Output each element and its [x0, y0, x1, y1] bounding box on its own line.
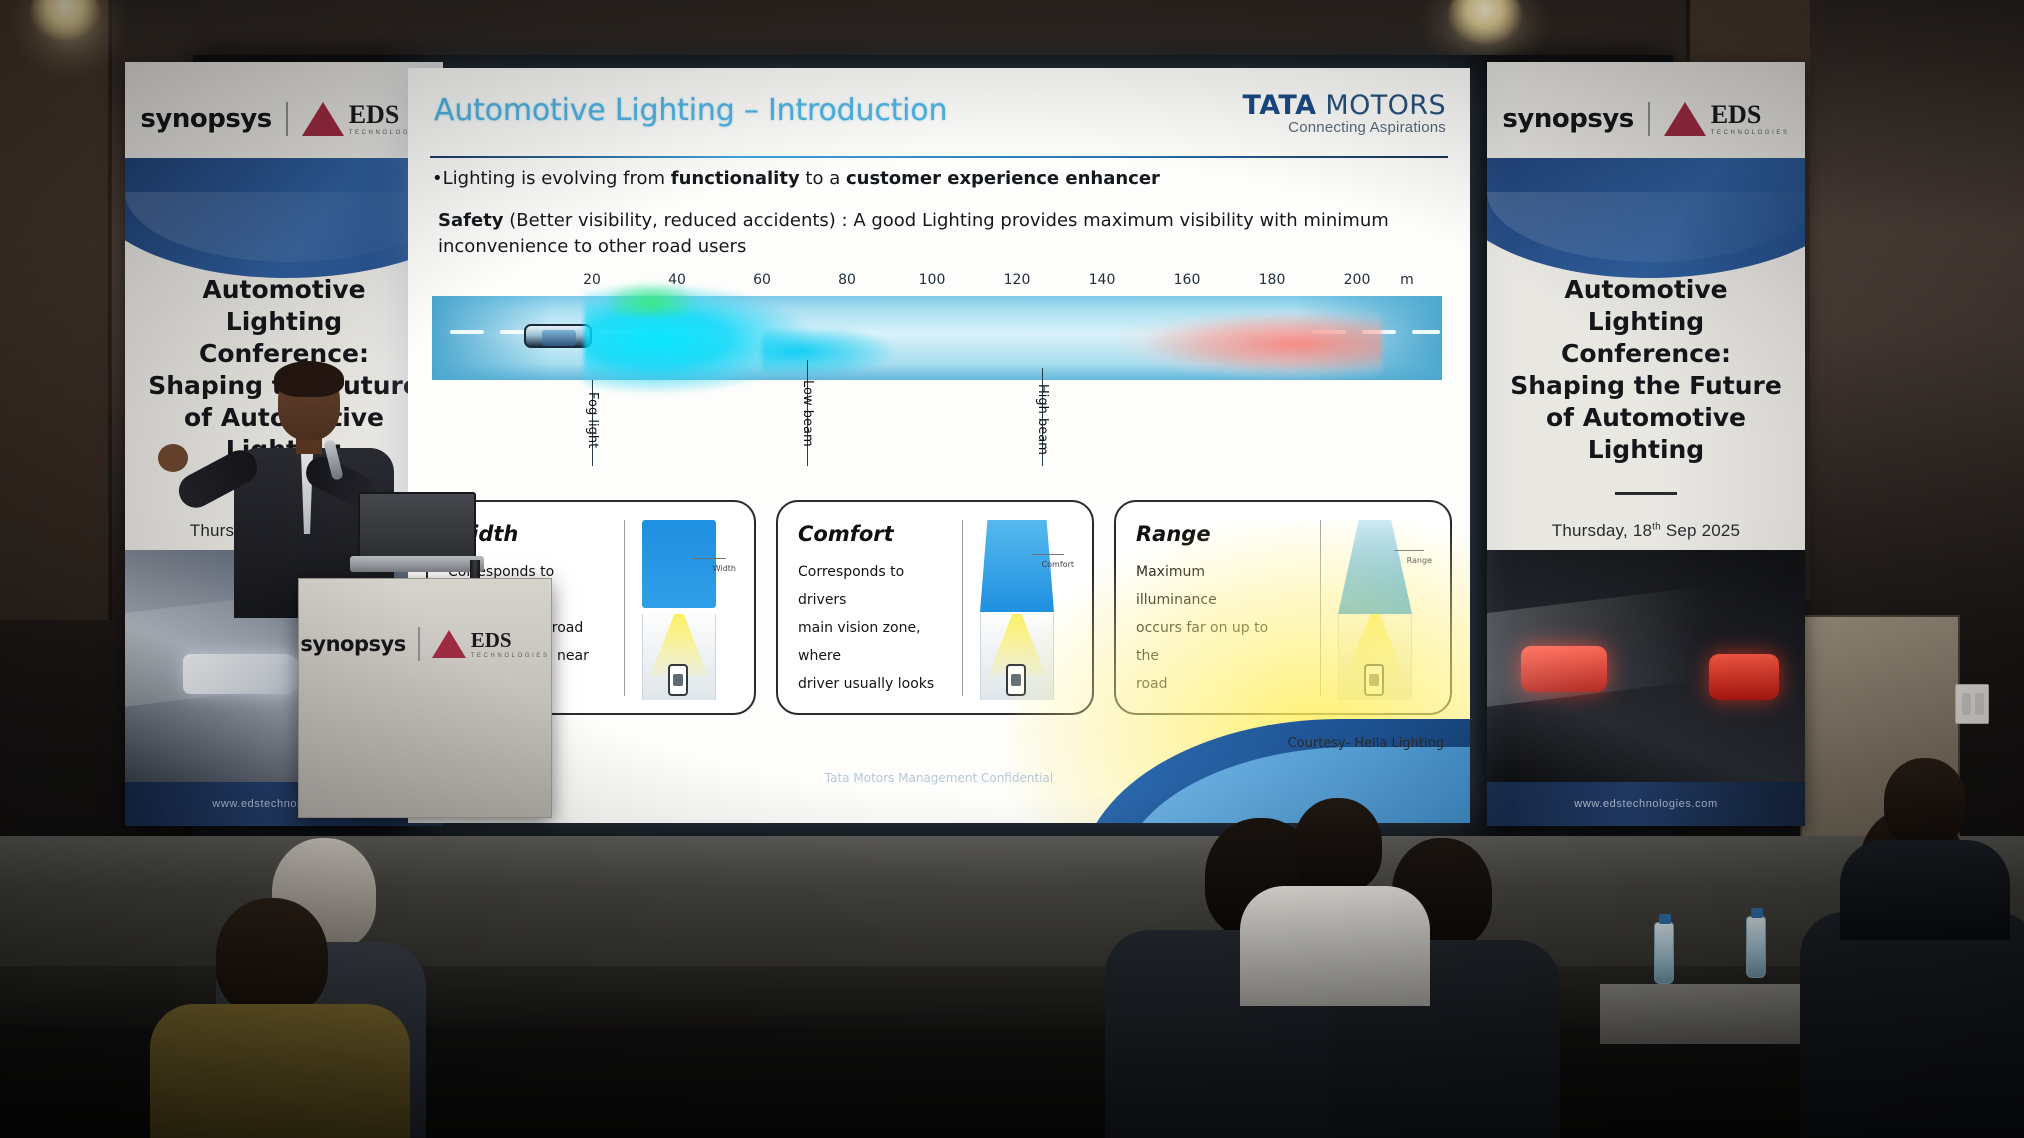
- bullet-prefix: Lighting is evolving from: [443, 168, 671, 189]
- audience-member: [1240, 798, 1430, 998]
- eds-wordmark: EDS: [349, 102, 400, 128]
- triangle-icon: [1664, 102, 1706, 136]
- eds-wordmark: EDS: [471, 630, 512, 651]
- slide-confidential-footer: Tata Motors Management Confidential: [825, 771, 1053, 785]
- callout-line: [692, 558, 726, 559]
- slide-title-rule: [430, 156, 1448, 158]
- audience-head: [1884, 758, 1966, 846]
- courtesy-credit: Courtesy- Hella Lighting: [1288, 736, 1444, 751]
- wall-seam-left: [108, 0, 112, 620]
- lane-dash: [450, 330, 484, 334]
- scale-tick-100: 100: [919, 272, 946, 288]
- card-callout: Width: [713, 564, 736, 573]
- figure-axis: [624, 520, 625, 696]
- presenter-hair: [274, 361, 344, 397]
- logo-divider: [1648, 102, 1650, 136]
- logo-divider: [286, 102, 288, 136]
- banner-date-prefix: Thursday, 18: [1552, 521, 1652, 540]
- projected-slide: Automotive Lighting – Introduction TATA …: [408, 68, 1470, 823]
- figure-car-icon: [668, 664, 688, 696]
- banner-right: synopsys EDS TECHNOLOGIES Automotive Lig…: [1487, 62, 1805, 826]
- scale-tick-180: 180: [1259, 272, 1286, 288]
- synopsys-wordmark: synopsys: [300, 632, 405, 656]
- slide-safety-paragraph: Safety (Better visibility, reduced accid…: [438, 208, 1442, 260]
- podium-logo: synopsys EDS TECHNOLOGIES: [299, 627, 551, 661]
- audience-member: [150, 898, 410, 1138]
- card-line: driver usually looks: [798, 670, 950, 698]
- scale-tick-200: 200: [1344, 272, 1371, 288]
- card-body: Corresponds to drivers main vision zone,…: [798, 558, 950, 698]
- synopsys-wordmark: synopsys: [1502, 104, 1633, 134]
- eds-tagline: TECHNOLOGIES: [471, 653, 550, 659]
- laptop-keyboard: [350, 556, 484, 572]
- beam-label-high-beam: High beam: [1035, 384, 1050, 455]
- triangle-icon: [432, 630, 466, 658]
- blue-zone: [642, 520, 716, 608]
- lane-dash: [1412, 330, 1440, 334]
- audience-head: [216, 898, 328, 1016]
- card-title: Comfort: [798, 522, 894, 546]
- wall-panel-left: [0, 0, 110, 620]
- card-line: Corresponds to drivers: [798, 558, 950, 614]
- triangle-icon: [302, 102, 344, 136]
- low-beam-tail: [762, 330, 952, 384]
- eds-logo: EDS TECHNOLOGIES: [1664, 102, 1790, 136]
- banner-logo-right: synopsys EDS TECHNOLOGIES: [1487, 88, 1805, 150]
- audience-member: [1840, 758, 2010, 928]
- motors-name: MOTORS: [1316, 90, 1446, 121]
- safety-text: (Better visibility, reduced accidents) :…: [438, 210, 1389, 257]
- slide-title: Automotive Lighting – Introduction: [434, 93, 947, 128]
- card-figure-width: Width: [616, 514, 738, 704]
- water-bottle: [1654, 922, 1674, 984]
- banner-divider-1: [1615, 492, 1677, 495]
- scale-tick-140: 140: [1089, 272, 1116, 288]
- scale-unit-label: m: [1400, 272, 1414, 288]
- eds-tagline: TECHNOLOGIES: [1711, 130, 1790, 136]
- banner-date: Thursday, 18th Sep 2025: [1503, 521, 1789, 541]
- presenter-hand-left: [158, 444, 188, 472]
- eds-logo: EDS TECHNOLOGIES: [432, 630, 550, 659]
- car-icon: [524, 324, 592, 348]
- audience-shoulders: [1240, 886, 1430, 1006]
- screenshot-stage: synopsys EDS TECHNOLOGIES Automotive Lig…: [0, 0, 2024, 1138]
- logo-divider: [418, 627, 420, 661]
- tata-tagline: Connecting Aspirations: [1242, 119, 1446, 136]
- fog-light-pattern: [610, 282, 700, 316]
- tata-wordmark: TATA MOTORS: [1242, 90, 1446, 121]
- audience-shoulders: [150, 1004, 410, 1138]
- tata-name: TATA: [1242, 90, 1316, 121]
- banner-swoosh-right: [1487, 158, 1805, 278]
- synopsys-wordmark: synopsys: [140, 104, 271, 134]
- light-switch[interactable]: [1955, 684, 1989, 724]
- beam-label-low-beam: Low beam: [800, 380, 815, 447]
- beam-range-figure: 20 40 60 80 100 120 140 160 180 200 m: [432, 268, 1442, 468]
- eds-wordmark: EDS: [1711, 102, 1762, 128]
- slide-bullet-evolving: •Lighting is evolving from functionality…: [432, 168, 1440, 189]
- banner-url: www.edstechnologies.com: [1574, 798, 1717, 810]
- banner-footer-right: www.edstechnologies.com: [1487, 782, 1805, 826]
- audience-head: [1294, 798, 1382, 892]
- banner-date-suffix: Sep 2025: [1661, 521, 1740, 540]
- presenter-laptop[interactable]: [350, 492, 480, 582]
- beam-label-fog-light: Fog light: [585, 392, 600, 448]
- safety-label: Safety: [438, 210, 504, 231]
- podium: synopsys EDS TECHNOLOGIES: [298, 578, 552, 818]
- scale-tick-160: 160: [1174, 272, 1201, 288]
- banner-logo-left: synopsys EDS TECHNOLOGIES: [125, 88, 443, 150]
- bullet-bold-experience: customer experience enhancer: [846, 168, 1160, 189]
- laptop-screen: [358, 492, 476, 558]
- banner-date-ordinal: th: [1652, 521, 1661, 532]
- high-beam-pattern: [992, 308, 1382, 380]
- banner-title: Automotive Lighting Conference: Shaping …: [1503, 274, 1789, 466]
- bullet-middle: to a: [800, 168, 846, 189]
- bullet-bold-functionality: functionality: [671, 168, 800, 189]
- water-bottle: [1746, 916, 1766, 978]
- banner-photo-right: [1487, 550, 1805, 782]
- audience-shoulders: [1840, 840, 2010, 940]
- banner-swoosh-left: [125, 158, 443, 278]
- tata-motors-logo: TATA MOTORS Connecting Aspirations: [1242, 90, 1446, 136]
- scale-tick-120: 120: [1004, 272, 1031, 288]
- card-line: main vision zone, where: [798, 614, 950, 670]
- audience-shoulders: [1800, 912, 2024, 1138]
- figure-axis: [962, 520, 963, 696]
